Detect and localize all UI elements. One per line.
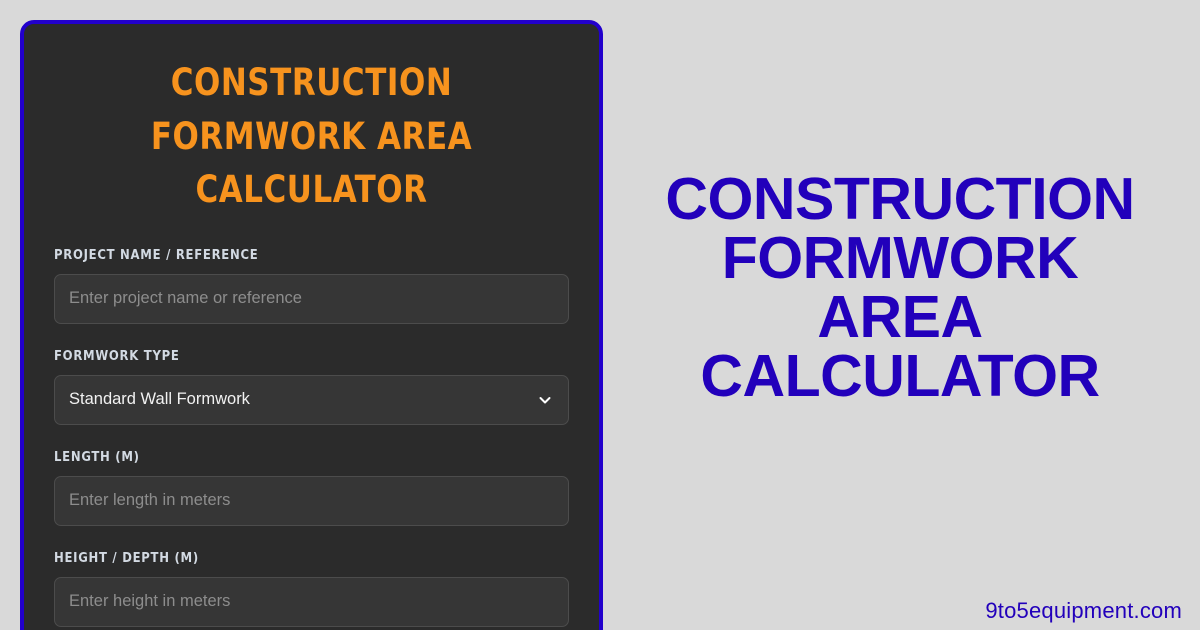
label-length: Length (m) <box>54 449 548 465</box>
length-input[interactable]: Enter length in meters <box>54 476 569 526</box>
height-placeholder: Enter height in meters <box>69 592 230 611</box>
formwork-type-selected-value: Standard Wall Formwork <box>69 390 250 409</box>
label-formwork-type: Formwork Type <box>54 348 548 364</box>
screenshot-canvas: Construction Formwork Area Calculator Pr… <box>0 0 1200 630</box>
calculator-form: Project Name / Reference Enter project n… <box>54 247 569 630</box>
formwork-calculator-card: Construction Formwork Area Calculator Pr… <box>20 20 603 630</box>
length-placeholder: Enter length in meters <box>69 491 230 510</box>
formwork-type-select[interactable]: Standard Wall Formwork <box>54 375 569 425</box>
project-name-input[interactable]: Enter project name or reference <box>54 274 569 324</box>
label-project-name: Project Name / Reference <box>54 247 548 263</box>
promo-heading-line-3: Area <box>620 288 1180 347</box>
field-group-length: Length (m) Enter length in meters <box>54 449 569 526</box>
promo-heading-line-4: Calculator <box>620 347 1180 406</box>
project-name-placeholder: Enter project name or reference <box>69 289 302 308</box>
promo-heading-line-2: Formwork <box>620 229 1180 288</box>
promo-heading: Construction Formwork Area Calculator <box>620 170 1180 406</box>
site-watermark: 9to5equipment.com <box>985 598 1182 624</box>
field-group-project-name: Project Name / Reference Enter project n… <box>54 247 569 324</box>
promo-heading-line-1: Construction <box>620 170 1180 229</box>
label-height-depth: Height / Depth (m) <box>54 550 548 566</box>
calculator-title: Construction Formwork Area Calculator <box>72 56 551 217</box>
field-group-formwork-type: Formwork Type Standard Wall Formwork <box>54 348 569 425</box>
field-group-height: Height / Depth (m) Enter height in meter… <box>54 550 569 627</box>
promo-panel: Construction Formwork Area Calculator <box>620 0 1180 630</box>
height-input[interactable]: Enter height in meters <box>54 577 569 627</box>
chevron-down-icon <box>538 393 552 407</box>
